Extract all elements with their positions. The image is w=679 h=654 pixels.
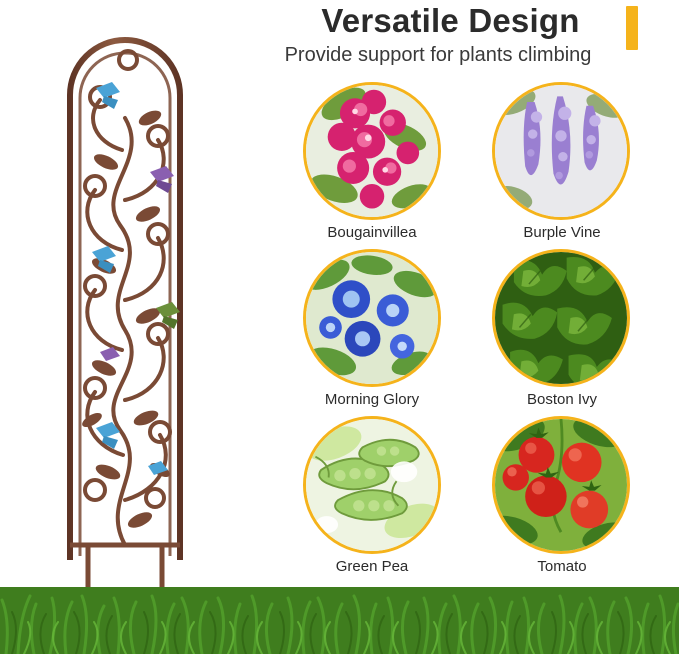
plant-item: Morning Glory [290, 249, 470, 417]
plant-label: Burple Vine [480, 224, 644, 241]
plant-label: Morning Glory [290, 391, 454, 408]
leaf-green-icon [492, 249, 630, 387]
trellis-illustration [0, 0, 240, 600]
plant-label: Bougainvillea [290, 224, 454, 241]
plant-item: Bougainvillea [290, 82, 470, 250]
plant-item: Burple Vine [470, 82, 650, 250]
flower-blue-icon [303, 249, 441, 387]
pea-pod-icon [303, 416, 441, 554]
trellis-product-image [0, 0, 240, 600]
plant-label: Boston Ivy [480, 391, 644, 408]
product-infographic: Versatile Design Provide support for pla… [0, 0, 679, 654]
flower-pink-icon [303, 82, 441, 220]
page-title: Versatile Design [278, 2, 623, 40]
plant-item: Boston Ivy [470, 249, 650, 417]
flower-purple-icon [492, 82, 630, 220]
grass-strip [0, 559, 679, 654]
plant-examples-grid: Bougainvillea [290, 82, 679, 582]
tomato-red-icon [492, 416, 630, 554]
page-subtitle: Provide support for plants climbing [218, 44, 658, 67]
header: Versatile Design Provide support for pla… [218, 0, 679, 86]
